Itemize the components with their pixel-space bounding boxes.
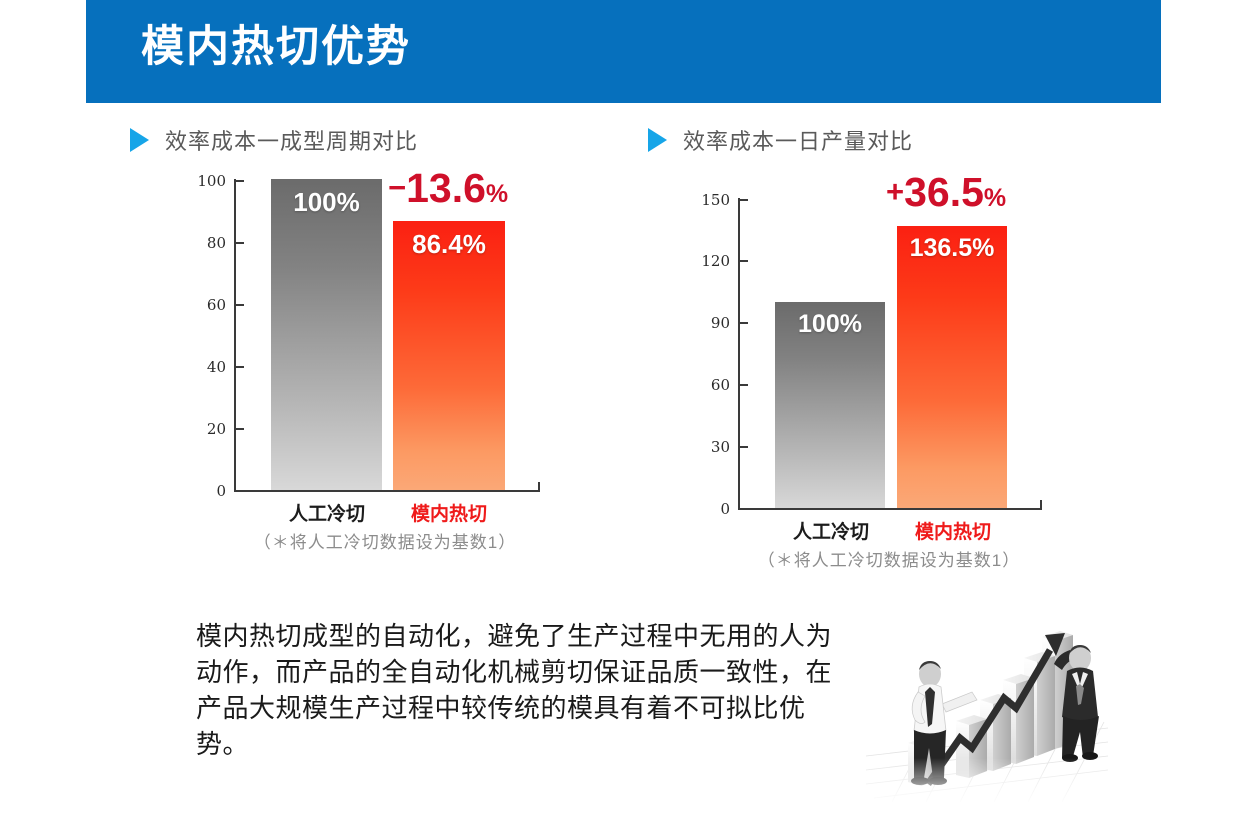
chart-footnote-1: （＊将人工冷切数据设为基数1） (254, 528, 516, 553)
triangle-right-icon (130, 128, 149, 152)
y-tick-label-150-2: 150 (682, 191, 730, 209)
y-tick-label-90-2: 90 (682, 314, 730, 332)
delta-annotation-1: −13.6% (388, 168, 508, 209)
category-label-1-1: 模内热切 (411, 499, 487, 526)
y-tick-label-100-1: 100 (178, 172, 226, 190)
category-label-1-0: 人工冷切 (289, 499, 365, 526)
y-tick-label-80-1: 80 (178, 234, 226, 252)
y-tick-mark-60-1 (236, 304, 244, 306)
bar-manual-cold-cut-2[interactable]: 100% (775, 302, 885, 508)
y-tick-label-40-1: 40 (178, 358, 226, 376)
category-label-2-0: 人工冷切 (793, 517, 869, 544)
delta-sign-1: − (388, 170, 406, 205)
y-tick-label-60-2: 60 (682, 376, 730, 394)
bar-value-label-2-1: 136.5% (897, 234, 1007, 263)
y-tick-mark-20-1 (236, 428, 244, 430)
y-tick-label-120-2: 120 (682, 252, 730, 270)
y-tick-label-0-2: 0 (682, 500, 730, 518)
page-title: 模内热切优势 (141, 17, 411, 77)
y-tick-label-20-1: 20 (178, 420, 226, 438)
y-tick-mark-120-2 (740, 260, 748, 262)
chart-heading-2: 效率成本一日产量对比 (648, 124, 913, 156)
y-tick-mark-100-1 (236, 180, 244, 182)
bar-value-label-1-1: 86.4% (393, 229, 505, 260)
bar-manual-cold-cut-1[interactable]: 100% (271, 179, 382, 490)
delta-annotation-2: +36.5% (886, 172, 1006, 213)
y-tick-mark-40-1 (236, 366, 244, 368)
chart-heading-label-1: 效率成本一成型周期对比 (165, 124, 418, 156)
growth-chart-illustration (864, 588, 1110, 806)
category-label-2-1: 模内热切 (915, 517, 991, 544)
y-tick-label-60-1: 60 (178, 296, 226, 314)
x-axis-line-1 (234, 490, 540, 492)
triangle-right-icon (648, 128, 667, 152)
y-tick-mark-30-2 (740, 446, 748, 448)
y-tick-label-0-1: 0 (178, 482, 226, 500)
y-tick-mark-90-2 (740, 322, 748, 324)
delta-number-2: 36.5 (904, 169, 984, 215)
bar-value-label-2-0: 100% (775, 310, 885, 339)
chart-footnote-2: （＊将人工冷切数据设为基数1） (758, 546, 1020, 571)
chart-heading-1: 效率成本一成型周期对比 (130, 124, 418, 156)
chart-heading-label-2: 效率成本一日产量对比 (683, 124, 913, 156)
bar-in-mold-hot-cut-2[interactable]: 136.5% (897, 226, 1007, 508)
title-banner: 模内热切优势 (86, 0, 1161, 103)
y-axis-line-2 (738, 198, 740, 510)
bar-value-label-1-0: 100% (271, 187, 382, 218)
x-axis-end-cap-1 (538, 482, 540, 491)
bar-in-mold-hot-cut-1[interactable]: 86.4% (393, 221, 505, 490)
y-axis-line-1 (234, 179, 236, 492)
body-paragraph: 模内热切成型的自动化，避免了生产过程中无用的人为动作，而产品的全自动化机械剪切保… (196, 618, 856, 762)
y-tick-label-30-2: 30 (682, 438, 730, 456)
delta-number-1: 13.6 (406, 165, 486, 211)
x-axis-line-2 (738, 508, 1042, 510)
delta-sign-2: + (886, 174, 904, 209)
y-tick-mark-80-1 (236, 242, 244, 244)
y-tick-mark-150-2 (740, 199, 748, 201)
delta-percent-1: % (486, 180, 508, 208)
delta-percent-2: % (984, 184, 1006, 212)
y-tick-mark-60-2 (740, 384, 748, 386)
x-axis-end-cap-2 (1040, 500, 1042, 509)
